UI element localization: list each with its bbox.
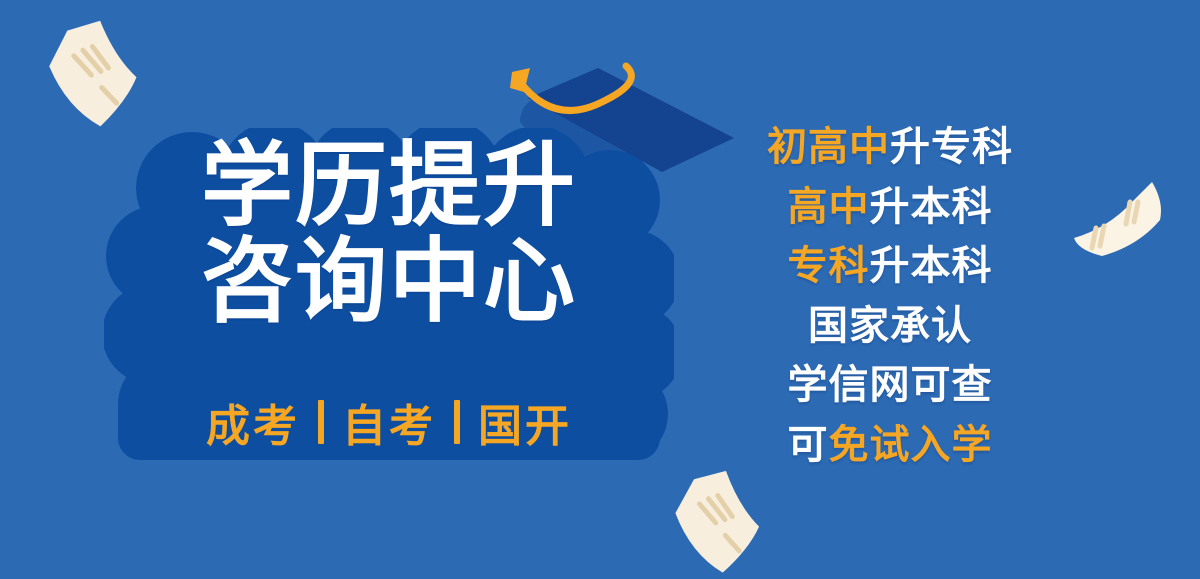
feature-line-4: 学信网可查 (788, 364, 993, 406)
headline-line-1: 学历提升 (201, 140, 577, 234)
feature-line-0: 初高中升专科 (767, 126, 1013, 168)
feature-line-1: 高中升本科 (788, 186, 993, 228)
feature-line-0-white: 升专科 (890, 125, 1013, 169)
feature-line-0-orange: 初高中 (767, 125, 890, 169)
flying-paper-icon-top-left (48, 22, 148, 134)
feature-line-1-white: 升本科 (870, 185, 993, 229)
promo-banner: 学历提升 咨询中心 成考 自考 国开 初高中升专科 高中升本科 专科升本科 国家… (0, 0, 1200, 579)
sub-band-separator-0 (318, 400, 324, 444)
feature-line-3-white: 国家承认 (808, 304, 972, 348)
feature-list: 初高中升专科 高中升本科 专科升本科 国家承认 学信网可查 可免试入学 (740, 126, 1040, 466)
sub-band-item-2: 国开 (478, 390, 572, 454)
sub-band-separator-1 (454, 400, 460, 444)
feature-line-2-orange: 专科 (788, 244, 870, 288)
sub-band-item-1: 自考 (342, 390, 436, 454)
flying-paper-icon-bottom (672, 472, 772, 579)
feature-line-3: 国家承认 (808, 305, 972, 347)
sub-band-item-0: 成考 (206, 390, 300, 454)
feature-line-1-orange: 高中 (788, 185, 870, 229)
feature-line-2-white: 升本科 (870, 244, 993, 288)
sub-band: 成考 自考 国开 (118, 384, 660, 460)
sub-band-text: 成考 自考 国开 (206, 390, 572, 454)
feature-line-5-white: 可 (788, 423, 829, 467)
feature-line-2: 专科升本科 (788, 245, 993, 287)
flying-paper-icon-right (1068, 176, 1178, 272)
headline-line-2: 咨询中心 (201, 236, 577, 330)
feature-line-5-orange: 免试入学 (829, 423, 993, 467)
feature-line-4-white: 学信网可查 (788, 363, 993, 407)
feature-line-5: 可免试入学 (788, 424, 993, 466)
